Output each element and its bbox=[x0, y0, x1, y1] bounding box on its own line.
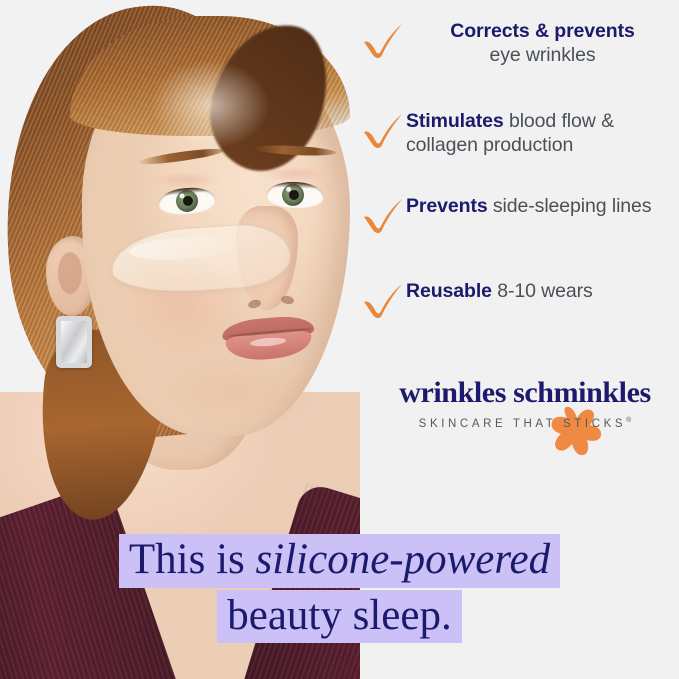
benefit-item-1: Corrects & preventseye wrinkles bbox=[360, 18, 679, 67]
brand-logo: wrinkles schminkles SKINCARE THAT STICKS… bbox=[380, 376, 670, 430]
model-photo bbox=[0, 0, 360, 679]
earring bbox=[56, 316, 92, 368]
check-icon bbox=[360, 193, 406, 237]
eyelid-right bbox=[262, 166, 328, 182]
benefits-panel: Corrects & preventseye wrinkles Stimulat… bbox=[360, 0, 679, 679]
benefit-item-3: Prevents side-sleeping lines bbox=[360, 193, 679, 237]
product-ad: Corrects & preventseye wrinkles Stimulat… bbox=[0, 0, 679, 679]
check-icon bbox=[360, 278, 406, 322]
benefit-rest-1: eye wrinkles bbox=[489, 44, 595, 66]
brand-tagline: SKINCARE THAT STICKS® bbox=[380, 417, 670, 430]
benefit-bold-1: Corrects & prevents bbox=[450, 20, 635, 42]
jawline-shading bbox=[150, 352, 320, 432]
benefit-item-2: Stimulates blood flow & collagen product… bbox=[360, 108, 679, 157]
benefit-bold-2: Stimulates bbox=[406, 110, 504, 132]
benefit-text-1: Corrects & preventseye wrinkles bbox=[406, 18, 679, 67]
benefit-rest-4: 8-10 wears bbox=[492, 280, 593, 302]
check-icon bbox=[360, 108, 406, 152]
benefit-rest-3: side-sleeping lines bbox=[488, 195, 652, 217]
check-icon bbox=[360, 18, 406, 62]
forehead-highlight bbox=[150, 60, 270, 150]
benefit-bold-4: Reusable bbox=[406, 280, 492, 302]
benefit-text-2: Stimulates blood flow & collagen product… bbox=[406, 108, 679, 157]
orange-x-blob-icon bbox=[550, 404, 604, 458]
benefit-bold-3: Prevents bbox=[406, 195, 488, 217]
benefit-item-4: Reusable 8-10 wears bbox=[360, 278, 679, 322]
eye-right bbox=[266, 181, 325, 209]
benefit-text-4: Reusable 8-10 wears bbox=[406, 278, 679, 303]
brand-wordmark: wrinkles schminkles bbox=[380, 376, 670, 410]
registered-mark: ® bbox=[626, 417, 631, 424]
eyelid-left bbox=[154, 172, 220, 188]
benefit-text-3: Prevents side-sleeping lines bbox=[406, 193, 679, 218]
